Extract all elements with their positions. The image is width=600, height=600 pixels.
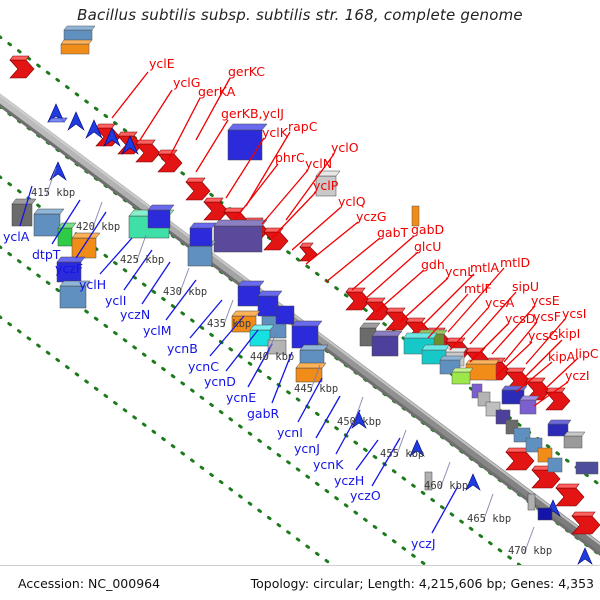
gene-label-yczN[interactable]: yczN bbox=[120, 309, 150, 322]
gene-label-yclH[interactable]: yclH bbox=[79, 279, 106, 292]
gene-label-yczF[interactable]: yczF bbox=[55, 263, 83, 276]
scale-tick-470: 470 kbp bbox=[508, 546, 552, 557]
gene-label-ycnB[interactable]: ycnB bbox=[167, 343, 198, 356]
gene-label-yclA[interactable]: yclA bbox=[3, 231, 29, 244]
gene-label-ycnE[interactable]: ycnE bbox=[226, 392, 256, 405]
gene-label-mtlD[interactable]: mtlD bbox=[500, 257, 530, 270]
gene-label-phrC[interactable]: phrC bbox=[275, 152, 305, 165]
gene-label-gabR[interactable]: gabR bbox=[247, 408, 279, 421]
gene-label-yclK[interactable]: yclK bbox=[262, 127, 288, 140]
gene-label-lipC[interactable]: lipC bbox=[575, 348, 599, 361]
scale-tick-415: 415 kbp bbox=[31, 188, 75, 199]
gene-label-sipU[interactable]: sipU bbox=[512, 281, 539, 294]
gene-label-yclN[interactable]: yclN bbox=[305, 158, 332, 171]
scale-tick-455: 455 kbp bbox=[380, 449, 424, 460]
gene-label-ycnI[interactable]: ycnI bbox=[277, 427, 303, 440]
gene-label-ycnD[interactable]: ycnD bbox=[204, 376, 236, 389]
gene-label-mtlA[interactable]: mtlA bbox=[470, 262, 499, 275]
gene-label-kipA[interactable]: kipA bbox=[548, 351, 575, 364]
label-layer: yclE yclG gerKA gerKC gerKB,yclJ yclK ra… bbox=[0, 0, 600, 600]
gene-label-yclQ[interactable]: yclQ bbox=[338, 196, 366, 209]
scale-tick-425: 425 kbp bbox=[120, 255, 164, 266]
gene-label-yczG[interactable]: yczG bbox=[356, 211, 387, 224]
gene-label-gerKC[interactable]: gerKC bbox=[228, 66, 265, 79]
gene-label-ycsI[interactable]: ycsI bbox=[562, 308, 586, 321]
scale-tick-435: 435 kbp bbox=[207, 319, 251, 330]
gene-label-yczJ[interactable]: yczJ bbox=[411, 538, 436, 551]
gene-label-dtpT[interactable]: dtpT bbox=[32, 249, 60, 262]
gene-label-yczO[interactable]: yczO bbox=[350, 490, 381, 503]
gene-label-ycnK[interactable]: ycnK bbox=[313, 459, 343, 472]
gene-label-gdh[interactable]: gdh bbox=[421, 259, 445, 272]
gene-label-yclE[interactable]: yclE bbox=[149, 58, 175, 71]
gene-label-gabD[interactable]: gabD bbox=[411, 224, 444, 237]
gene-label-gerKA[interactable]: gerKA bbox=[198, 86, 235, 99]
gene-label-ycsE[interactable]: ycsE bbox=[531, 295, 560, 308]
gene-label-ycnJ[interactable]: ycnJ bbox=[294, 443, 320, 456]
scale-tick-420: 420 kbp bbox=[76, 222, 120, 233]
scale-tick-440: 440 kbp bbox=[250, 352, 294, 363]
gene-label-gabT[interactable]: gabT bbox=[377, 227, 408, 240]
scale-tick-465: 465 kbp bbox=[467, 514, 511, 525]
gene-label-yclP[interactable]: yclP bbox=[313, 180, 338, 193]
scale-tick-460: 460 kbp bbox=[424, 481, 468, 492]
gene-label-yclO[interactable]: yclO bbox=[331, 142, 359, 155]
gene-label-kipI[interactable]: kipI bbox=[558, 328, 580, 341]
gene-label-ycsG[interactable]: ycsG bbox=[528, 330, 558, 343]
topology-text: Topology: circular; Length: 4,215,606 bp… bbox=[251, 576, 594, 591]
gene-label-yczH[interactable]: yczH bbox=[334, 475, 364, 488]
gene-label-ycnC[interactable]: ycnC bbox=[188, 361, 219, 374]
gene-label-yclG[interactable]: yclG bbox=[173, 77, 200, 90]
gene-label-gerKB-yclJ[interactable]: gerKB,yclJ bbox=[221, 108, 284, 121]
scale-tick-430: 430 kbp bbox=[163, 287, 207, 298]
gene-label-yclI[interactable]: yclI bbox=[105, 295, 126, 308]
status-bar: Accession: NC_000964 Topology: circular;… bbox=[0, 565, 600, 600]
genome-map-viewer: Bacillus subtilis subsp. subtilis str. 1… bbox=[0, 0, 600, 600]
scale-tick-450: 450 kbp bbox=[337, 417, 381, 428]
gene-label-mtlF[interactable]: mtlF bbox=[464, 283, 492, 296]
accession-text: Accession: NC_000964 bbox=[18, 576, 160, 591]
scale-tick-445: 445 kbp bbox=[294, 384, 338, 395]
gene-label-yclM[interactable]: yclM bbox=[143, 325, 172, 338]
gene-label-ycsA[interactable]: ycsA bbox=[485, 297, 514, 310]
gene-label-ycsF[interactable]: ycsF bbox=[533, 311, 561, 324]
gene-label-yczI[interactable]: yczI bbox=[565, 370, 590, 383]
gene-label-rapC[interactable]: rapC bbox=[288, 121, 317, 134]
gene-label-ycsD[interactable]: ycsD bbox=[505, 313, 535, 326]
gene-label-glcU[interactable]: glcU bbox=[414, 241, 441, 254]
